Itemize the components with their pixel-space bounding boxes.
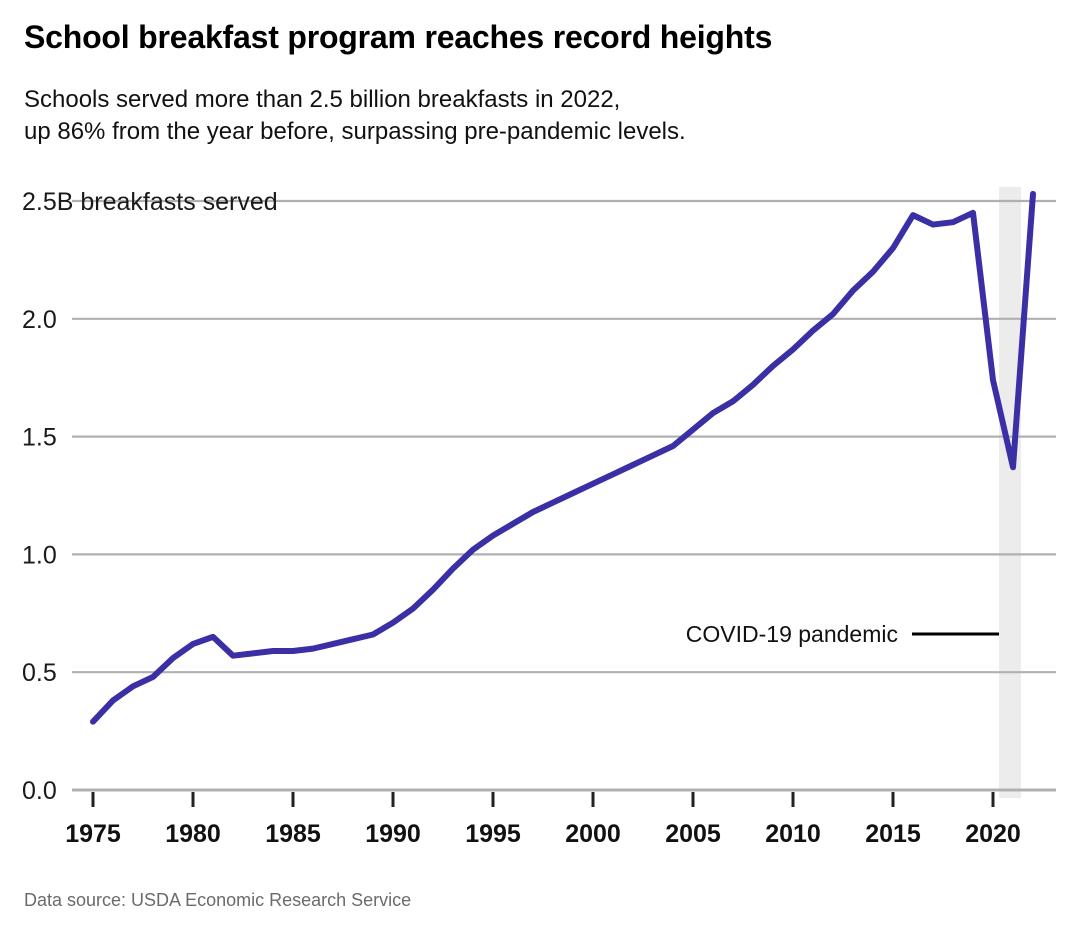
x-axis-ticks <box>93 792 993 807</box>
data-line-breakfasts-served <box>93 194 1033 722</box>
x-tick-label: 1995 <box>465 820 521 848</box>
x-tick-label: 2020 <box>965 820 1021 848</box>
y-axis-tick-labels: 0.00.51.01.52.02.5B breakfasts served <box>22 188 278 805</box>
y-tick-label: 2.5B breakfasts served <box>22 188 278 216</box>
x-tick-label: 1975 <box>65 820 121 848</box>
y-tick-label: 1.0 <box>22 541 57 569</box>
chart-title: School breakfast program reaches record … <box>24 18 1054 56</box>
x-tick-label: 2000 <box>565 820 621 848</box>
y-tick-label: 0.5 <box>22 659 57 687</box>
chart-figure: School breakfast program reaches record … <box>0 0 1080 938</box>
x-tick-label: 1990 <box>365 820 421 848</box>
series-line <box>93 194 1033 722</box>
x-tick-label: 1985 <box>265 820 321 848</box>
x-tick-label: 2015 <box>865 820 921 848</box>
y-tick-label: 2.0 <box>22 306 57 334</box>
data-source-footer: Data source: USDA Economic Research Serv… <box>24 890 411 911</box>
covid-pandemic-shaded-band <box>999 187 1021 798</box>
x-tick-label: 2005 <box>665 820 721 848</box>
x-tick-label: 2010 <box>765 820 821 848</box>
y-tick-label: 1.5 <box>22 424 57 452</box>
covid-annotation-label: COVID-19 pandemic <box>686 621 898 647</box>
x-tick-label: 1980 <box>165 820 221 848</box>
y-tick-label: 0.0 <box>22 777 57 805</box>
gridlines <box>72 201 1056 790</box>
covid-annotation: COVID-19 pandemic <box>686 621 999 647</box>
x-axis-tick-labels: 1975198019851990199520002005201020152020 <box>65 820 1021 848</box>
chart-subtitle: Schools served more than 2.5 billion bre… <box>24 84 1064 147</box>
